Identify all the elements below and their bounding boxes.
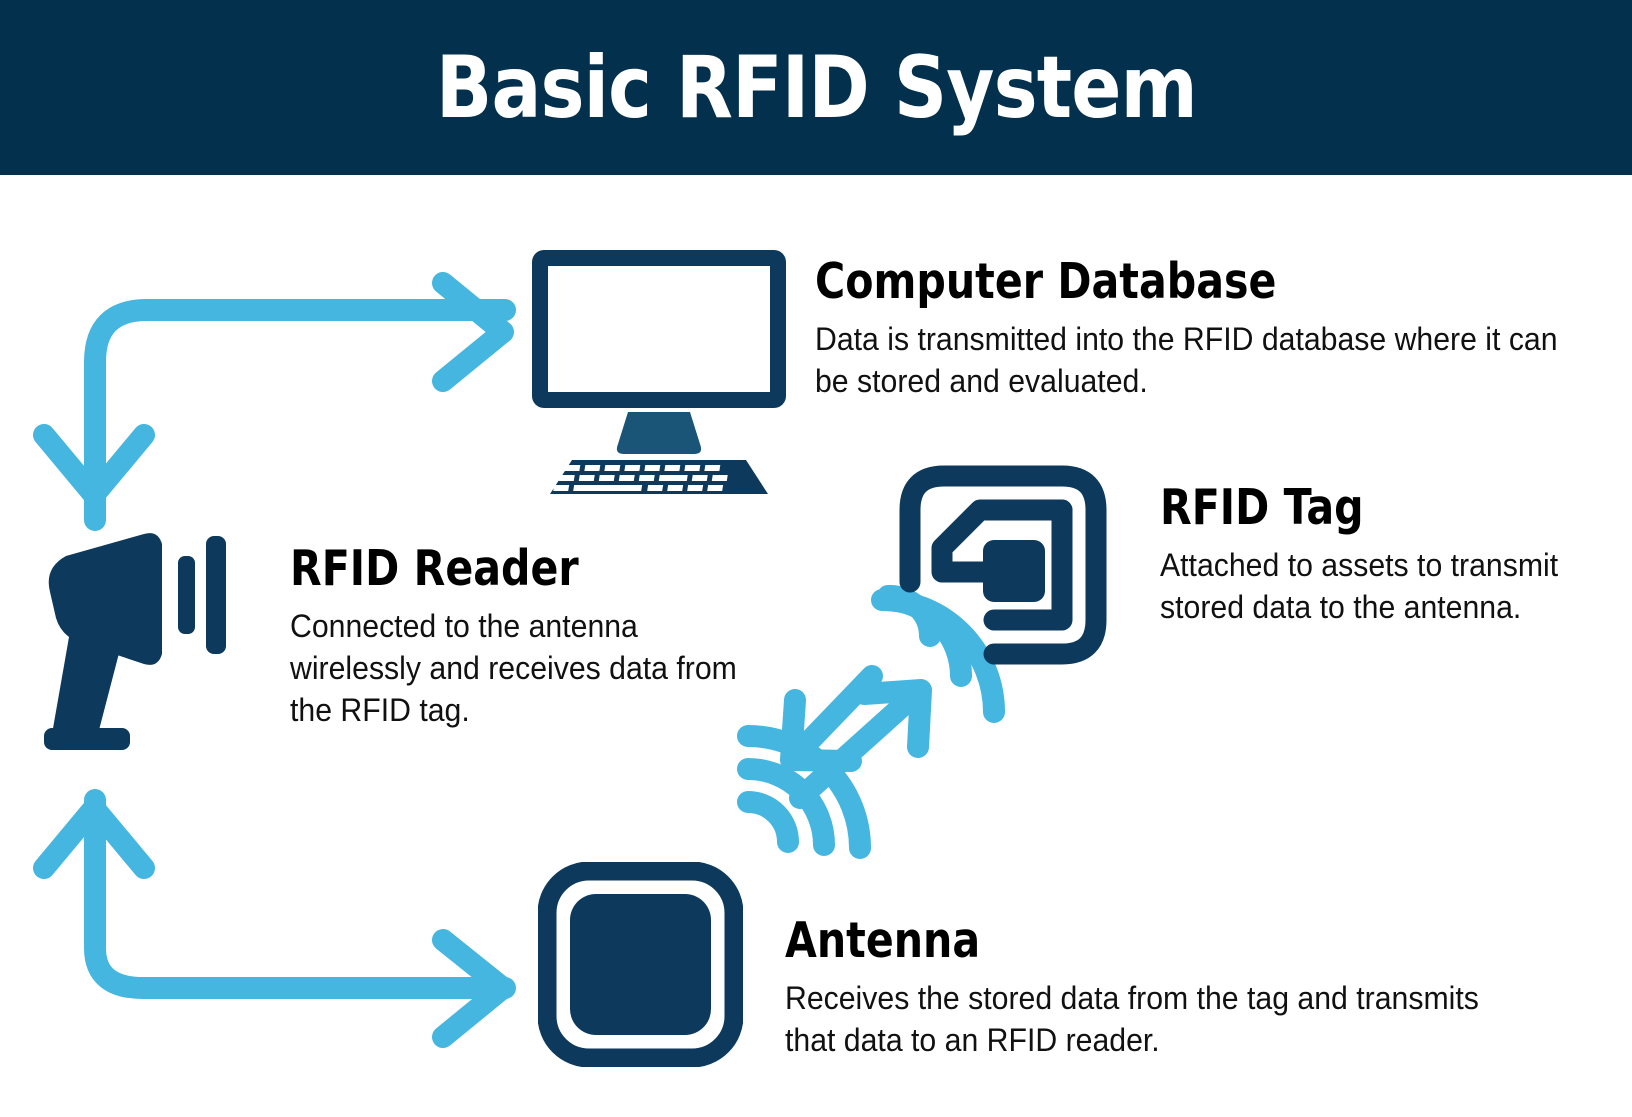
rfid-reader-description: Connected to the antenna wirelessly and … [290, 606, 774, 731]
reader-to-database-arrow [44, 283, 505, 520]
antenna-description: Receives the stored data from the tag an… [785, 978, 1510, 1061]
rfid-tag-block: RFID Tag Attached to assets to transmit … [1160, 482, 1630, 629]
computer-monitor-icon [528, 246, 790, 496]
computer-database-description: Data is transmitted into the RFID databa… [815, 319, 1559, 402]
rfid-tag-description: Attached to assets to transmit stored da… [1160, 545, 1606, 628]
keyboard-shape [533, 460, 768, 494]
antenna-title: Antenna [785, 915, 1423, 966]
rfid-reader-block: RFID Reader Connected to the antenna wir… [290, 543, 810, 731]
computer-database-title: Computer Database [815, 256, 1453, 307]
antenna-panel-icon [538, 862, 743, 1067]
antenna-block: Antenna Receives the stored data from th… [785, 915, 1545, 1062]
computer-database-block: Computer Database Data is transmitted in… [815, 256, 1575, 403]
rfid-reader-title: RFID Reader [290, 543, 727, 594]
antenna-tag-arrow [791, 676, 921, 798]
infographic-canvas: Basic RFID System [0, 0, 1632, 1117]
antenna-to-reader-arrow [44, 800, 505, 1037]
rfid-tag-title: RFID Tag [1160, 482, 1555, 533]
rfid-tag-icon [890, 462, 1130, 672]
rfid-handheld-reader-icon [26, 528, 266, 758]
